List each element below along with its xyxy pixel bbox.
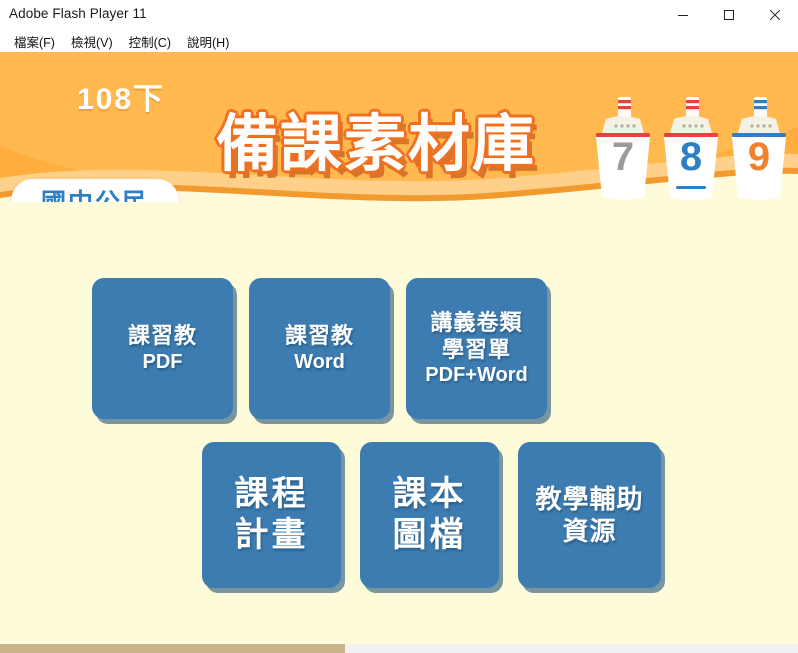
- title-bar: Adobe Flash Player 11: [0, 0, 798, 30]
- tile-handout-line2: PDF+Word: [425, 363, 527, 387]
- tile-handout-line1: 講義卷類 學習單: [430, 310, 522, 364]
- horizontal-scrollbar-thumb[interactable]: [0, 644, 345, 653]
- close-icon: [769, 9, 781, 21]
- window-title: Adobe Flash Player 11: [9, 6, 147, 21]
- header-banner: 108下 國中公民 備課素材庫: [0, 52, 798, 202]
- tile-teaching-resources[interactable]: 教學輔助 資源: [518, 442, 661, 588]
- maximize-button[interactable]: [706, 0, 752, 30]
- grade-number-8: 8: [660, 137, 722, 177]
- close-button[interactable]: [752, 0, 798, 30]
- tile-handout-worksheet[interactable]: 講義卷類 學習單 PDF+Word: [406, 278, 547, 419]
- subject-badge: 國中公民: [11, 179, 179, 202]
- subject-label: 國中公民: [41, 183, 149, 202]
- term-label: 108下: [46, 74, 196, 118]
- grade-number-9: 9: [728, 137, 790, 177]
- horizontal-scrollbar[interactable]: [0, 644, 798, 653]
- tile-lesson-pdf-line2: PDF: [143, 350, 183, 374]
- maximize-icon: [723, 9, 735, 21]
- tile-lesson-pdf[interactable]: 課習教 PDF: [92, 278, 233, 419]
- grade-badge-8[interactable]: 8: [660, 93, 722, 202]
- tile-lesson-pdf-line1: 課習教: [128, 323, 197, 350]
- menu-item-help[interactable]: 說明(H): [179, 31, 237, 52]
- menu-item-control[interactable]: 控制(C): [121, 31, 179, 52]
- tile-lesson-word-line2: Word: [294, 350, 345, 374]
- window-controls: [660, 0, 798, 30]
- grade-badges: 7 8: [592, 93, 790, 202]
- minimize-icon: [677, 9, 689, 21]
- grade-badge-9[interactable]: 9: [728, 93, 790, 202]
- page-title: 備課素材庫: [216, 114, 536, 176]
- menu-item-view[interactable]: 檢視(V): [63, 31, 121, 52]
- flash-player-window: Adobe Flash Player 11 檔案(F) 檢視(V) 控制(C): [0, 0, 798, 653]
- tile-lesson-word[interactable]: 課習教 Word: [249, 278, 390, 419]
- tile-course-plan[interactable]: 課程 計畫: [202, 442, 341, 588]
- tile-course-plan-label: 課程 計畫: [235, 474, 309, 557]
- tile-lesson-word-line1: 課習教: [285, 323, 354, 350]
- tile-teaching-resources-label: 教學輔助 資源: [535, 483, 643, 548]
- tile-textbook-images[interactable]: 課本 圖檔: [360, 442, 499, 588]
- tile-grid: 課習教 PDF 課習教 Word 講義卷類 學習單 PDF+Word 課程 計畫…: [0, 202, 798, 602]
- menu-bar: 檔案(F) 檢視(V) 控制(C) 說明(H): [0, 30, 798, 52]
- flash-stage: 108下 國中公民 備課素材庫: [0, 52, 798, 644]
- grade-number-7: 7: [592, 137, 654, 177]
- grade-badge-7[interactable]: 7: [592, 93, 654, 202]
- menu-item-file[interactable]: 檔案(F): [6, 31, 63, 52]
- minimize-button[interactable]: [660, 0, 706, 30]
- tile-textbook-images-label: 課本 圖檔: [393, 474, 467, 557]
